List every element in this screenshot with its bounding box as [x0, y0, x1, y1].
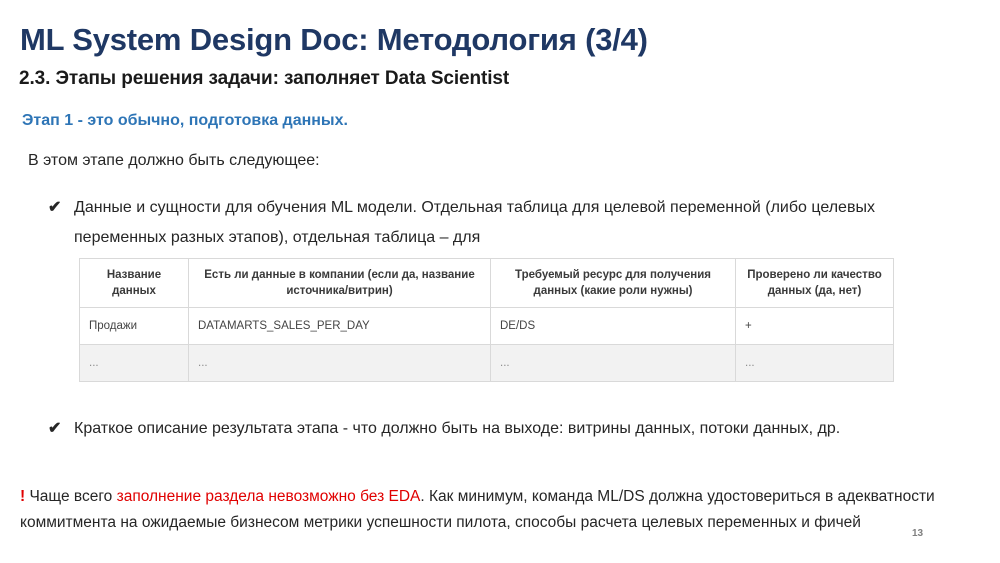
- page-number: 13: [912, 528, 923, 539]
- table-row: Продажи DATAMARTS_SALES_PER_DAY DE/DS +: [80, 308, 894, 345]
- note-lead-text: Чаще всего: [25, 488, 116, 505]
- table-cell: ...: [80, 345, 189, 382]
- table-cell: ...: [736, 345, 894, 382]
- list-item: ✔ Данные и сущности для обучения ML моде…: [48, 193, 928, 253]
- note-paragraph: ! Чаще всего заполнение раздела невозмож…: [20, 484, 942, 536]
- table-cell: ...: [491, 345, 736, 382]
- table-cell: DATAMARTS_SALES_PER_DAY: [189, 308, 491, 345]
- note-highlight-text: заполнение раздела невозможно без EDA: [117, 488, 421, 505]
- table-cell: Продажи: [80, 308, 189, 345]
- list-item-label: Данные и сущности для обучения ML модели…: [74, 193, 928, 253]
- intro-text: В этом этапе должно быть следующее:: [28, 152, 320, 170]
- list-item-label: Краткое описание результата этапа - что …: [74, 414, 840, 444]
- page-subtitle: 2.3. Этапы решения задачи: заполняет Dat…: [19, 68, 509, 90]
- check-icon: ✔: [48, 193, 74, 223]
- table-cell: ...: [189, 345, 491, 382]
- table-column-header: Требуемый ресурс для получения данных (к…: [491, 259, 736, 308]
- table-cell: +: [736, 308, 894, 345]
- table-cell: DE/DS: [491, 308, 736, 345]
- list-item: ✔ Краткое описание результата этапа - чт…: [48, 414, 948, 444]
- table-column-header: Название данных: [80, 259, 189, 308]
- stage-heading: Этап 1 - это обычно, подготовка данных.: [22, 112, 348, 130]
- table-column-header: Проверено ли качество данных (да, нет): [736, 259, 894, 308]
- data-requirements-table: Название данных Есть ли данные в компани…: [79, 258, 894, 382]
- table-column-header: Есть ли данные в компании (если да, назв…: [189, 259, 491, 308]
- table-header-row: Название данных Есть ли данные в компани…: [80, 259, 894, 308]
- page-title: ML System Design Doc: Методология (3/4): [20, 22, 648, 58]
- table-row: ... ... ... ...: [80, 345, 894, 382]
- check-icon: ✔: [48, 414, 74, 444]
